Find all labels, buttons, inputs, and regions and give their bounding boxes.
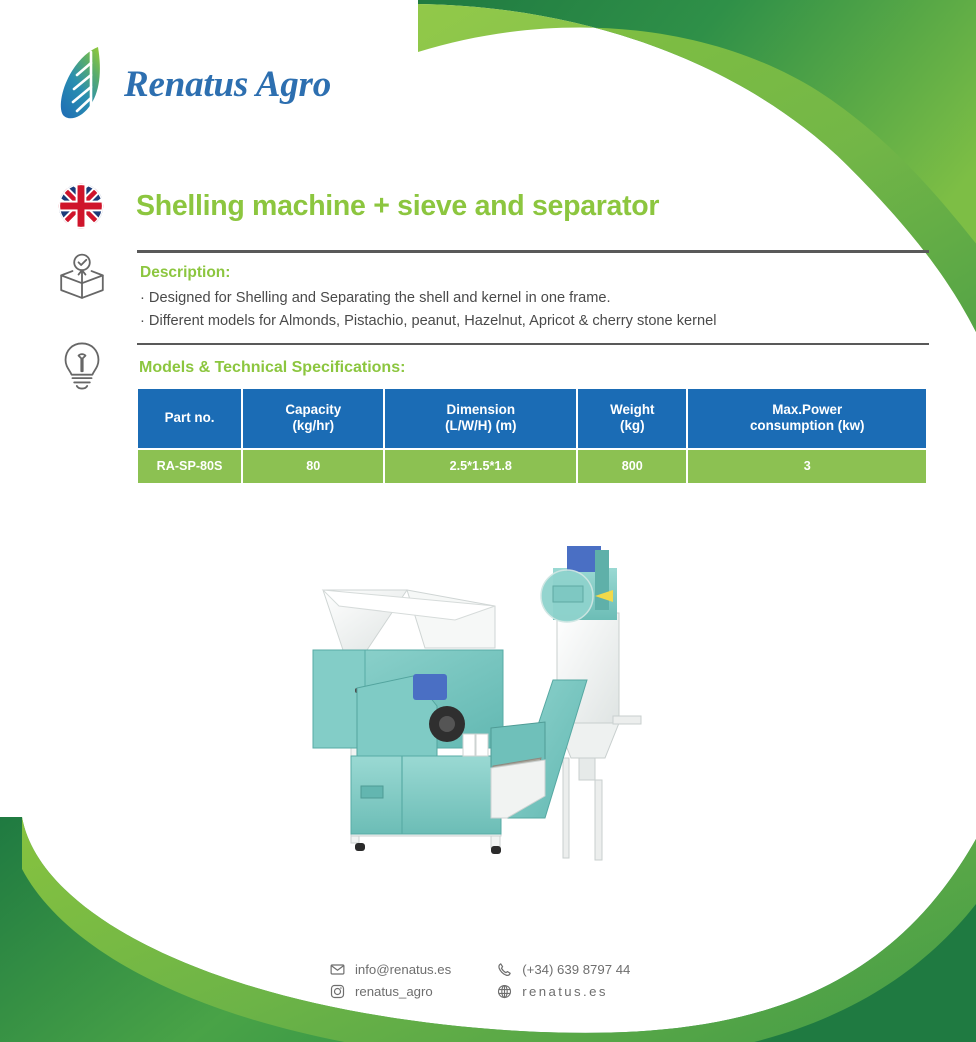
header-line-1: Weight — [610, 402, 654, 417]
footer-left-column: info@renatus.es renatus_agro — [330, 962, 451, 999]
feed-hopper — [323, 590, 495, 650]
lightbulb-wrench-icon — [56, 340, 108, 392]
open-box-check-icon — [56, 252, 108, 304]
shelling-machine-photo — [295, 528, 665, 868]
description-bullet: · Different models for Almonds, Pistachi… — [140, 310, 926, 333]
instagram-icon — [330, 984, 345, 999]
header-line-2: consumption (kw) — [750, 418, 865, 433]
header-line-2: (kg) — [620, 418, 645, 433]
contact-instagram[interactable]: renatus_agro — [330, 984, 451, 999]
contact-phone[interactable]: (+34) 639 8797 44 — [497, 962, 630, 977]
table-header-cell: Weight (kg) — [578, 389, 686, 448]
phone-icon — [497, 962, 512, 977]
phone-text: (+34) 639 8797 44 — [522, 962, 630, 977]
table-row: RA-SP-80S 80 2.5*1.5*1.8 800 3 — [138, 450, 926, 483]
footer-right-column: (+34) 639 8797 44 renatus.es — [497, 962, 630, 999]
cell-dimension: 2.5*1.5*1.8 — [385, 450, 576, 483]
cell-part-no: RA-SP-80S — [138, 450, 241, 483]
content-column: Description: · Designed for Shelling and… — [137, 250, 929, 485]
header-line-1: Max.Power — [772, 402, 842, 417]
header-line-1: Dimension — [447, 402, 515, 417]
table-header-cell: Capacity (kg/hr) — [243, 389, 383, 448]
cell-capacity: 80 — [243, 450, 383, 483]
motor — [413, 674, 447, 700]
specifications-heading: Models & Technical Specifications: — [139, 359, 929, 377]
description-bottom-rule — [137, 343, 929, 345]
header-line-1: Capacity — [285, 402, 341, 417]
page-title: Shelling machine + sieve and separator — [136, 190, 856, 223]
uk-flag-icon — [58, 183, 104, 229]
header-line-2: (L/W/H) (m) — [445, 418, 516, 433]
table-header-row: Part no. Capacity (kg/hr) Dimension (L/W… — [138, 389, 926, 448]
description-section: Description: · Designed for Shelling and… — [137, 253, 929, 343]
header-line-1: Part no. — [165, 410, 215, 425]
brand-name: Renatus Agro — [124, 66, 331, 103]
cell-max-power: 3 — [688, 450, 926, 483]
table-header-cell: Part no. — [138, 389, 241, 448]
description-bullet: · Designed for Shelling and Separating t… — [140, 287, 926, 310]
cell-weight: 800 — [578, 450, 686, 483]
globe-icon — [497, 984, 512, 999]
website-text: renatus.es — [522, 984, 608, 999]
instagram-text: renatus_agro — [355, 984, 433, 999]
table-header-cell: Dimension (L/W/H) (m) — [385, 389, 576, 448]
specifications-table: Part no. Capacity (kg/hr) Dimension (L/W… — [136, 387, 928, 485]
contact-website[interactable]: renatus.es — [497, 984, 630, 999]
datasheet-page: Renatus Agro Shelling machine + sieve an… — [0, 0, 976, 1042]
leaf-logo-icon — [58, 45, 114, 123]
footer-contacts: info@renatus.es renatus_agro (+34) 639 8… — [330, 962, 630, 999]
table-header-cell: Max.Power consumption (kw) — [688, 389, 926, 448]
description-heading: Description: — [140, 264, 926, 282]
contact-email[interactable]: info@renatus.es — [330, 962, 451, 977]
brand-logo: Renatus Agro — [58, 45, 331, 123]
email-text: info@renatus.es — [355, 962, 451, 977]
email-icon — [330, 962, 345, 977]
header-line-2: (kg/hr) — [292, 418, 334, 433]
